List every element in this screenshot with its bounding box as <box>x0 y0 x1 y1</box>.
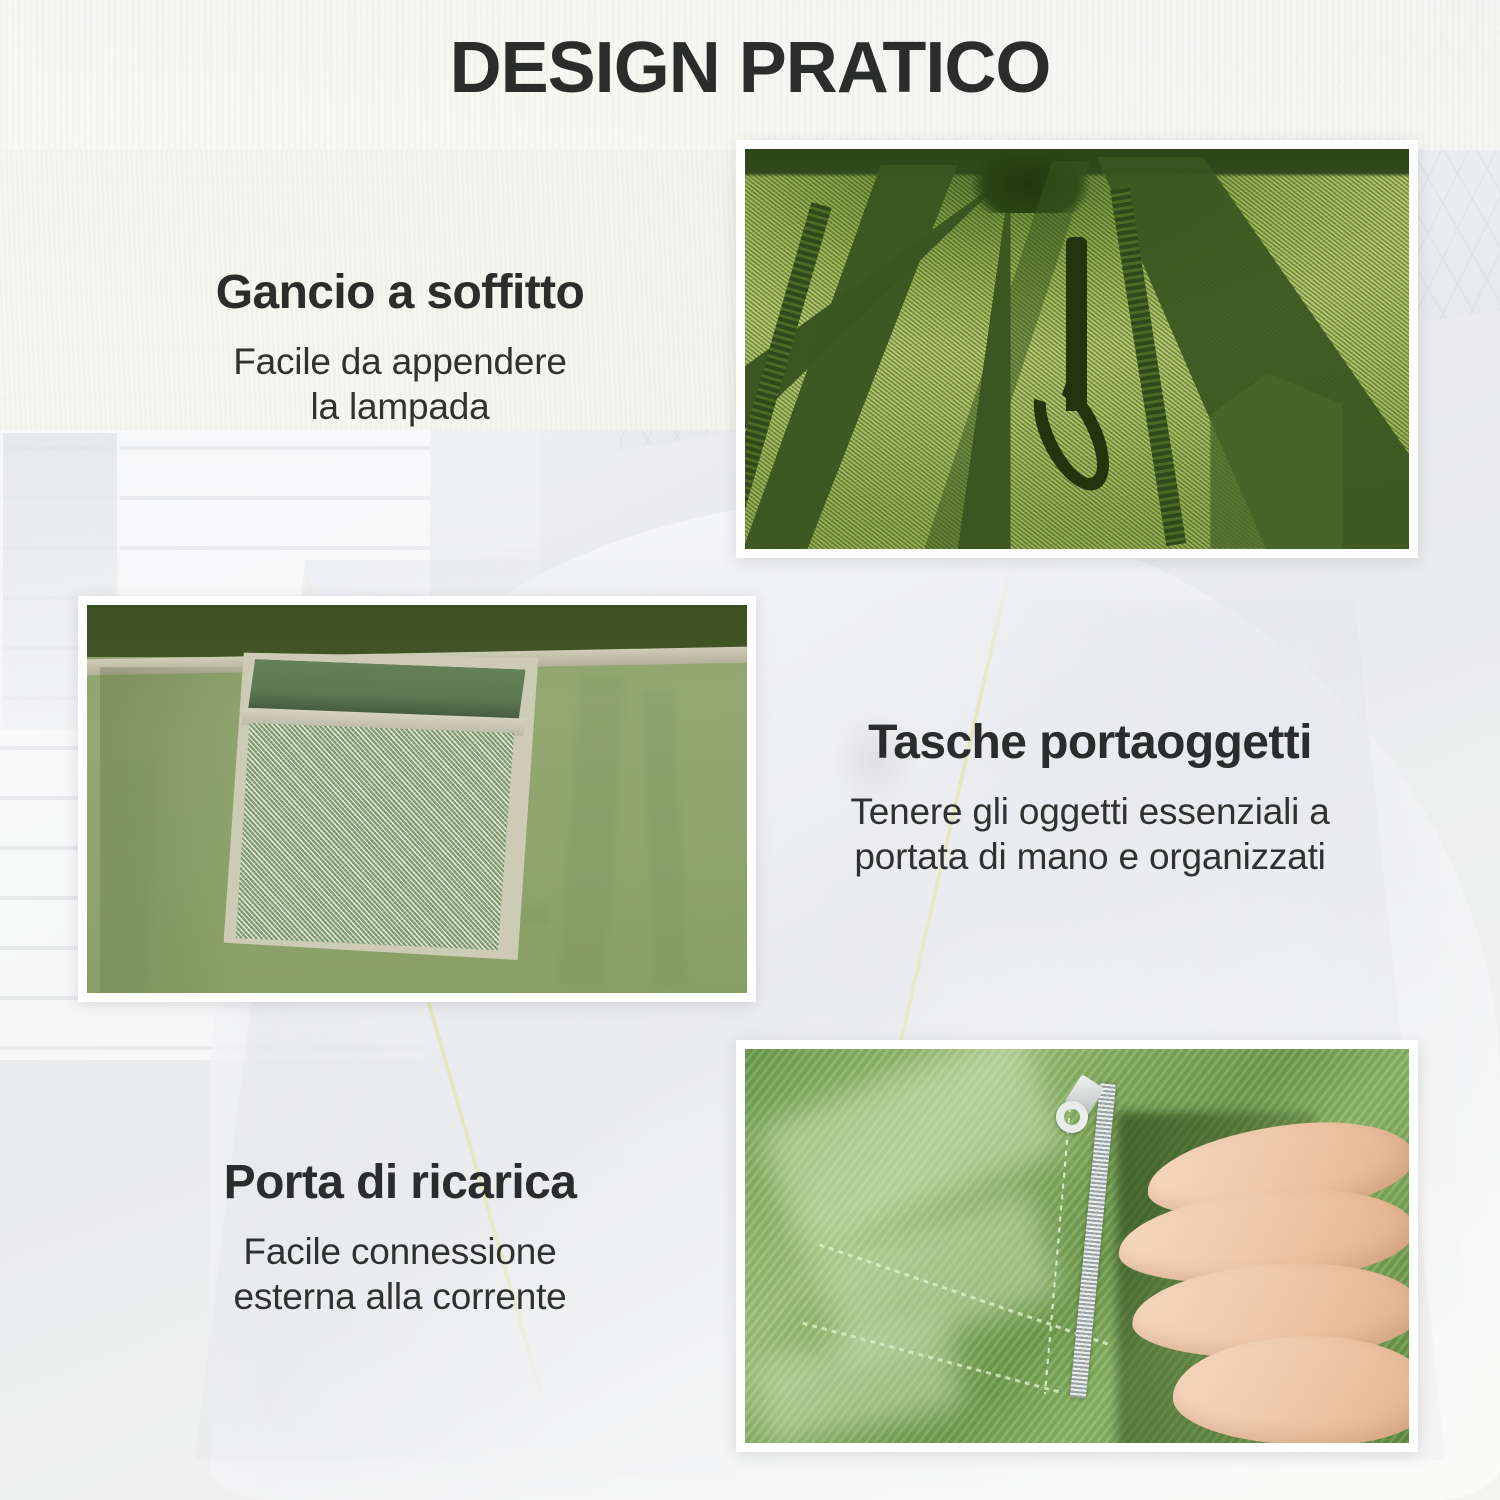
feature-title: Porta di ricarica <box>140 1158 660 1209</box>
ceiling-hook-photo <box>736 140 1418 558</box>
feature-description: Facile connessione esterna alla corrente <box>140 1229 660 1319</box>
feature-description-line: Tenere gli oggetti essenziali a <box>760 789 1420 834</box>
fabric-wrinkle <box>640 690 688 986</box>
ceiling-hook-icon <box>1037 237 1117 501</box>
feature-title: Tasche portaoggetti <box>760 718 1420 769</box>
feature-storage-pockets: Tasche portaoggetti Tenere gli oggetti e… <box>760 718 1420 879</box>
hand-opening-zipper <box>1090 1104 1409 1443</box>
product-feature-poster: ny. DESIGN PRATICO <box>0 0 1500 1500</box>
feature-title: Gancio a soffitto <box>140 268 660 319</box>
feature-description-line: la lampada <box>140 384 660 429</box>
feature-description-line: Facile connessione <box>140 1229 660 1274</box>
feature-description: Tenere gli oggetti essenziali a portata … <box>760 789 1420 879</box>
page-title: DESIGN PRATICO <box>0 32 1500 104</box>
feature-description-line: esterna alla corrente <box>140 1274 660 1319</box>
fabric-wrinkle <box>109 760 156 986</box>
feature-description: Facile da appendere la lampada <box>140 339 660 429</box>
charging-port-zipper-photo <box>736 1040 1418 1452</box>
feature-description-line: portata di mano e organizzati <box>760 834 1420 879</box>
feature-description-line: Facile da appendere <box>140 339 660 384</box>
fabric-wrinkle <box>558 674 626 987</box>
feature-charging-port: Porta di ricarica Facile connessione est… <box>140 1158 660 1319</box>
pocket-mesh-panel <box>236 722 514 950</box>
feature-ceiling-hook: Gancio a soffitto Facile da appendere la… <box>140 268 660 429</box>
storage-pocket-photo <box>78 596 756 1002</box>
mesh-storage-pocket <box>223 646 538 960</box>
